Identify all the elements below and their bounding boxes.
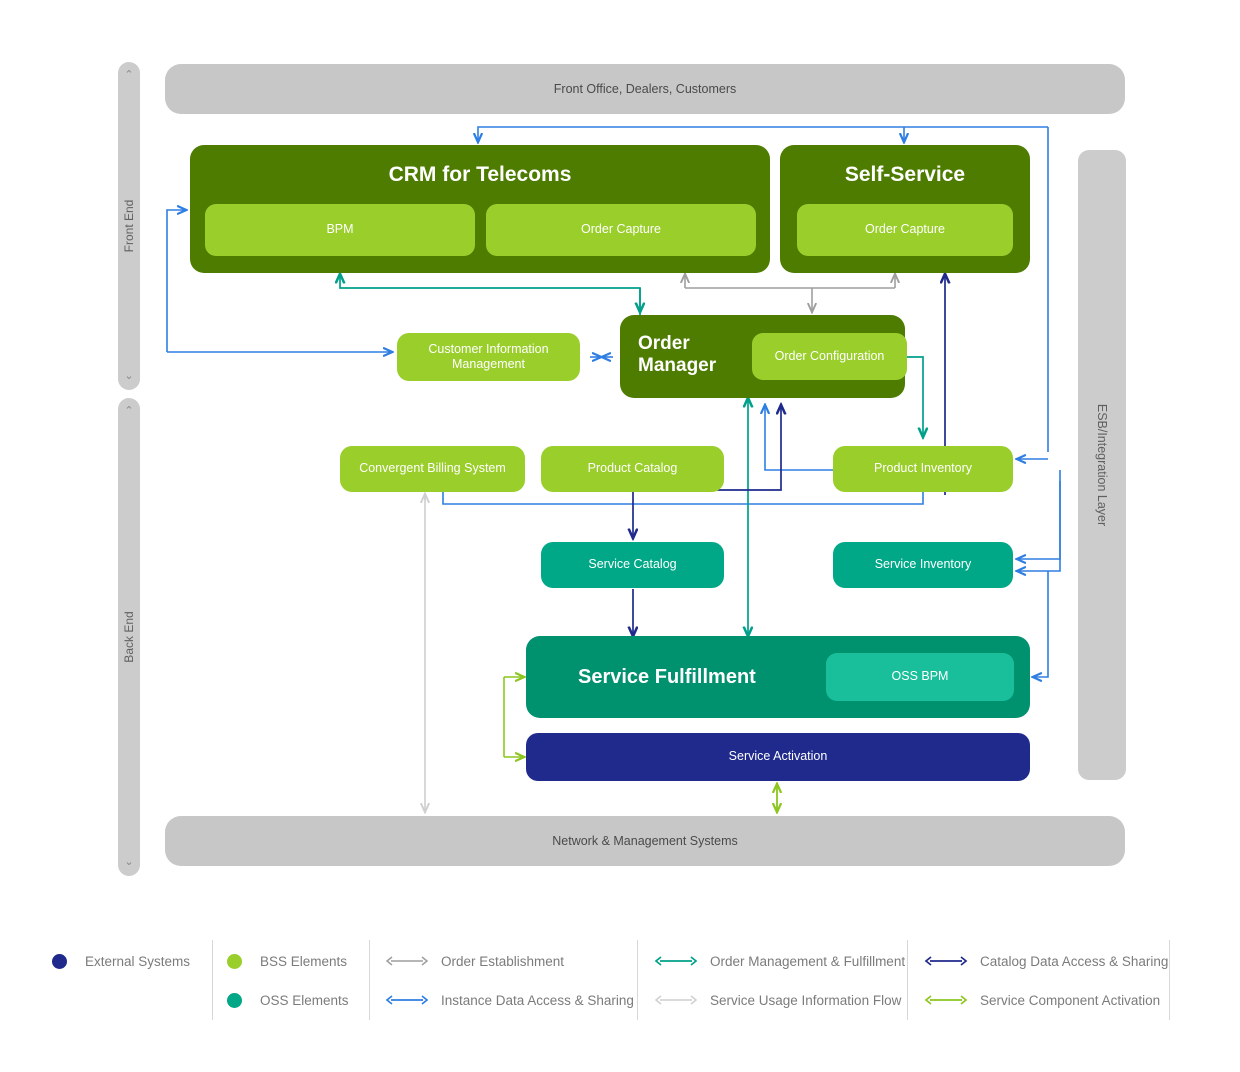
band-network-management-label: Network & Management Systems: [552, 834, 738, 848]
crm-title: CRM for Telecoms: [190, 162, 770, 188]
block-crm-for-telecoms[interactable]: CRM for Telecoms BPM Order Capture: [190, 145, 770, 273]
service-usage-arrow-icon: [654, 994, 698, 1006]
block-customer-information-management-label: Customer Information Management: [411, 342, 566, 373]
architecture-diagram: ⌃ Front End ⌄ ⌃ Back End ⌄ ESB/Integrati…: [0, 0, 1240, 1072]
catalog-data-arrow-icon: [924, 955, 968, 967]
order-manager-title-line2: Manager: [638, 355, 716, 376]
order-manager-child-order-configuration[interactable]: Order Configuration: [752, 333, 907, 380]
service-fulfillment-child-oss-bpm-label: OSS BPM: [892, 669, 949, 684]
legend-item-instance-data-access-label: Instance Data Access & Sharing: [441, 993, 634, 1008]
legend-divider-4: [907, 940, 908, 1020]
legend-item-external-systems: External Systems: [52, 942, 190, 980]
legend-item-external-systems-label: External Systems: [85, 954, 190, 969]
block-service-activation[interactable]: Service Activation: [526, 733, 1030, 781]
order-manager-title-line1: Order: [638, 333, 690, 354]
external-systems-dot-icon: [52, 954, 67, 969]
legend-item-service-component-activation: Service Component Activation: [924, 981, 1160, 1019]
legend-item-oss-elements-label: OSS Elements: [260, 993, 349, 1008]
block-product-catalog-label: Product Catalog: [588, 461, 678, 476]
block-convergent-billing-system[interactable]: Convergent Billing System: [340, 446, 525, 492]
legend-item-instance-data-access: Instance Data Access & Sharing: [385, 981, 634, 1019]
legend-divider-3: [637, 940, 638, 1020]
legend-item-catalog-data-access: Catalog Data Access & Sharing: [924, 942, 1168, 980]
rail-back-end-label: Back End: [122, 611, 136, 662]
block-self-service[interactable]: Self-Service Order Capture: [780, 145, 1030, 273]
legend-item-order-management-fulfillment: Order Management & Fulfillment: [654, 942, 905, 980]
block-service-inventory-label: Service Inventory: [875, 557, 972, 572]
legend-item-order-establishment: Order Establishment: [385, 942, 564, 980]
legend-divider-2: [369, 940, 370, 1020]
order-management-arrow-icon: [654, 955, 698, 967]
legend-item-service-usage-information-flow: Service Usage Information Flow: [654, 981, 901, 1019]
order-manager-title: Order Manager: [638, 333, 748, 377]
band-front-office-label: Front Office, Dealers, Customers: [554, 82, 736, 96]
block-order-manager[interactable]: Order Manager Order Configuration: [620, 315, 905, 398]
band-network-management: Network & Management Systems: [165, 816, 1125, 866]
legend-item-bss-elements: BSS Elements: [227, 942, 347, 980]
legend-item-bss-elements-label: BSS Elements: [260, 954, 347, 969]
legend-item-order-establishment-label: Order Establishment: [441, 954, 564, 969]
block-service-catalog-label: Service Catalog: [588, 557, 676, 572]
block-product-catalog[interactable]: Product Catalog: [541, 446, 724, 492]
legend-item-service-component-activation-label: Service Component Activation: [980, 993, 1160, 1008]
block-convergent-billing-system-label: Convergent Billing System: [359, 461, 506, 476]
legend-item-order-management-fulfillment-label: Order Management & Fulfillment: [710, 954, 905, 969]
back-end-chevron-down: ⌄: [118, 857, 140, 868]
legend-item-catalog-data-access-label: Catalog Data Access & Sharing: [980, 954, 1168, 969]
rail-esb-label: ESB/Integration Layer: [1095, 404, 1109, 526]
block-service-inventory[interactable]: Service Inventory: [833, 542, 1013, 588]
block-service-catalog[interactable]: Service Catalog: [541, 542, 724, 588]
crm-child-order-capture-label: Order Capture: [581, 222, 661, 237]
self-service-title: Self-Service: [780, 162, 1030, 188]
block-product-inventory-label: Product Inventory: [874, 461, 972, 476]
band-front-office: Front Office, Dealers, Customers: [165, 64, 1125, 114]
back-end-chevron-up: ⌃: [118, 406, 140, 417]
rail-front-end: ⌃ Front End ⌄: [118, 62, 140, 390]
front-end-chevron-down: ⌄: [118, 371, 140, 382]
self-service-child-order-capture[interactable]: Order Capture: [797, 204, 1013, 256]
rail-back-end: ⌃ Back End ⌄: [118, 398, 140, 876]
self-service-child-order-capture-label: Order Capture: [865, 222, 945, 237]
legend-item-oss-elements: OSS Elements: [227, 981, 349, 1019]
legend-item-service-usage-information-flow-label: Service Usage Information Flow: [710, 993, 901, 1008]
order-manager-child-order-configuration-label: Order Configuration: [775, 349, 885, 364]
service-component-activation-arrow-icon: [924, 994, 968, 1006]
block-product-inventory[interactable]: Product Inventory: [833, 446, 1013, 492]
legend-divider-1: [212, 940, 213, 1020]
order-establishment-arrow-icon: [385, 955, 429, 967]
rail-esb-integration-layer: ESB/Integration Layer: [1078, 150, 1126, 780]
instance-data-arrow-icon: [385, 994, 429, 1006]
service-fulfillment-child-oss-bpm[interactable]: OSS BPM: [826, 653, 1014, 701]
service-fulfillment-title: Service Fulfillment: [578, 665, 756, 689]
block-service-activation-label: Service Activation: [729, 749, 828, 764]
crm-child-bpm-label: BPM: [326, 222, 353, 237]
legend-divider-5: [1169, 940, 1170, 1020]
front-end-chevron-up: ⌃: [118, 70, 140, 81]
crm-child-bpm[interactable]: BPM: [205, 204, 475, 256]
rail-front-end-label: Front End: [122, 200, 136, 253]
block-service-fulfillment[interactable]: Service Fulfillment OSS BPM: [526, 636, 1030, 718]
legend: External Systems BSS Elements Order Esta…: [42, 938, 1172, 1022]
block-customer-information-management[interactable]: Customer Information Management: [397, 333, 580, 381]
bss-elements-dot-icon: [227, 954, 242, 969]
oss-elements-dot-icon: [227, 993, 242, 1008]
crm-child-order-capture[interactable]: Order Capture: [486, 204, 756, 256]
